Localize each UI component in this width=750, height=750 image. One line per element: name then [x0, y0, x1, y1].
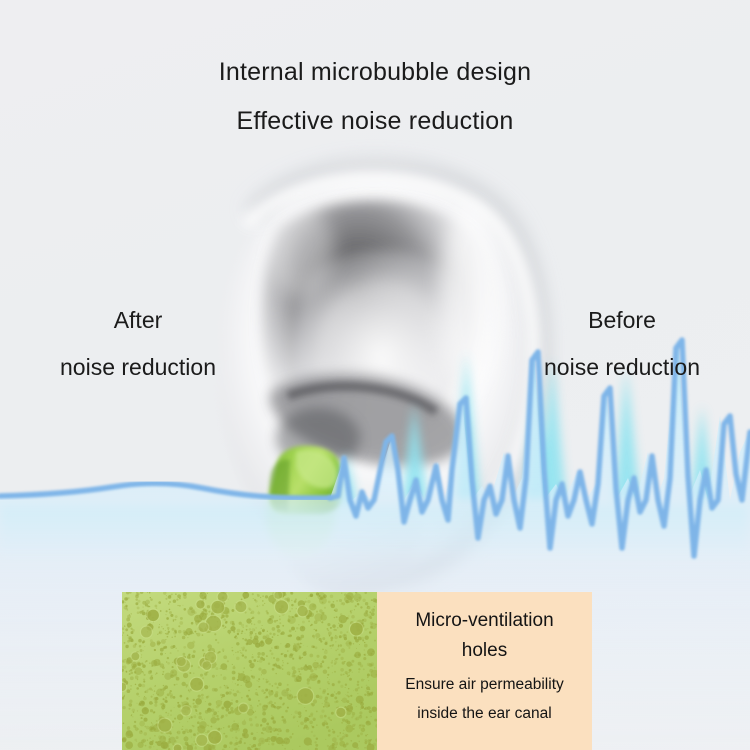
label-before-line-1: Before	[506, 305, 738, 335]
sponge-material-photo	[122, 592, 377, 750]
info-sub-line-1: Ensure air permeability	[377, 670, 592, 699]
sponge-texture	[122, 592, 377, 750]
info-title-line-2: holes	[377, 636, 592, 666]
label-before-line-2: noise reduction	[506, 352, 738, 382]
headline-line-2: Effective noise reduction	[0, 107, 750, 136]
info-panel-title: Micro-ventilation holes	[377, 606, 592, 666]
headline-line-1: Internal microbubble design	[0, 58, 750, 87]
label-after-noise-reduction: After noise reduction	[22, 305, 254, 382]
info-panel: Micro-ventilation holes Ensure air perme…	[377, 592, 592, 750]
product-marketing-image: Internal microbubble design Effective no…	[0, 0, 750, 750]
label-before-noise-reduction: Before noise reduction	[506, 305, 738, 382]
info-panel-subtitle: Ensure air permeability inside the ear c…	[377, 670, 592, 728]
label-after-line-1: After	[22, 305, 254, 335]
info-title-line-1: Micro-ventilation	[377, 606, 592, 636]
bottom-feature-strip: Micro-ventilation holes Ensure air perme…	[122, 592, 592, 750]
info-sub-line-2: inside the ear canal	[377, 699, 592, 728]
label-after-line-2: noise reduction	[22, 352, 254, 382]
